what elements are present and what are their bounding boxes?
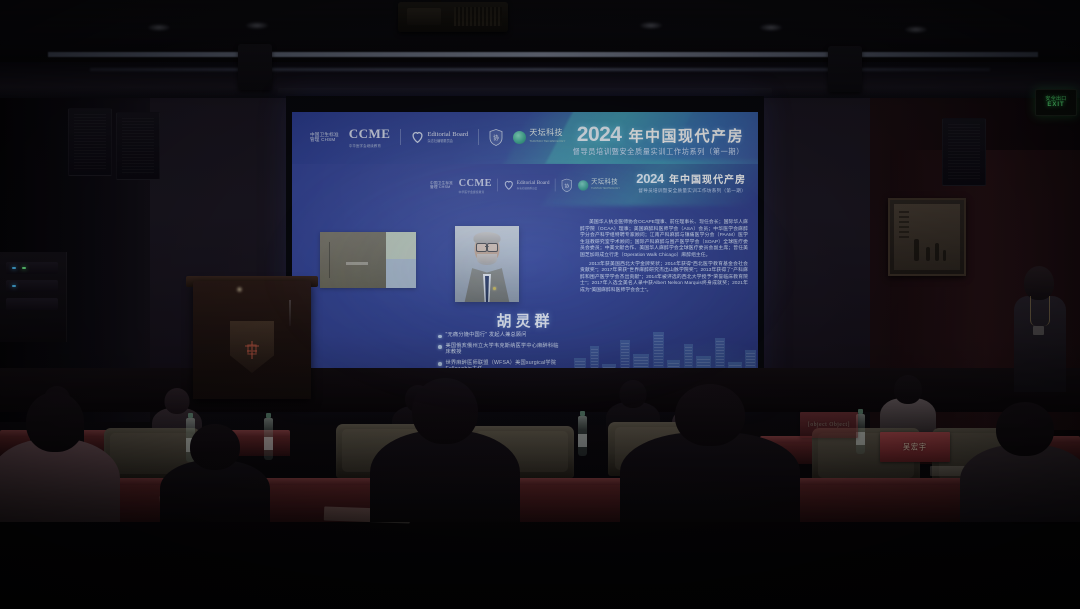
thumbnail-pane xyxy=(386,232,416,259)
inner-slide-title: 年中国现代产房 xyxy=(669,175,746,186)
inner-ccme-subtext: 中华医学会继续教育 xyxy=(459,190,492,194)
wall-speaker xyxy=(942,118,986,186)
downlight-icon xyxy=(760,24,782,31)
person-head xyxy=(190,424,240,470)
slide-title-block: 2024 年中国现代产房 督导员培训暨安全质量实训工作坊系列（第一期） xyxy=(573,124,744,156)
ccme-logo-text: CCME xyxy=(349,126,391,142)
person-head xyxy=(26,392,84,452)
slide-title: 年中国现代产房 xyxy=(628,129,744,145)
podium-emblem-plaque xyxy=(230,321,274,373)
editorial-board-logo: Editorial Board 杂志社编辑委员会 xyxy=(411,131,468,143)
ceiling-light-strip xyxy=(48,52,1038,57)
person-head xyxy=(675,384,745,446)
heart-icon xyxy=(411,131,424,143)
inner-editorial-board-logo: Editorial Board 杂志社编辑委员会 xyxy=(504,180,549,190)
portrait-beard xyxy=(477,254,497,265)
audience-area: [object Object] 吴宏宇 房明 王芳 xyxy=(0,392,1080,522)
painting-canvas xyxy=(894,204,960,270)
audience-member xyxy=(620,396,800,522)
exit-sign-english-label: EXIT xyxy=(1047,102,1064,109)
person-head xyxy=(1024,266,1054,300)
chsm-logo: 中国卫生标准 管理 CHSM xyxy=(310,132,339,143)
chsm-logo-line2: 管理 CHSM xyxy=(310,137,339,142)
bottle-cap xyxy=(858,409,863,414)
inner-sponsor-logo-row: 中国卫生标准 管理 CHSM CCME 中华医学会继续教育 xyxy=(430,176,620,194)
ccme-logo: CCME 中华医学会继续教育 xyxy=(349,126,391,148)
thumbnail-pane xyxy=(386,259,416,288)
tiantan-logo-subtext: TIANTAN TECHNOLOGY xyxy=(529,137,565,146)
speaker-biography: 美国华人执业医师协会OCAPE理事、前任理事长、现任会长；国际华人麻醉学院（OC… xyxy=(580,220,748,297)
ceiling-projector xyxy=(398,2,508,32)
thumbnail-divider xyxy=(329,242,330,278)
tiantan-mark-icon xyxy=(578,180,588,190)
bottle-cap xyxy=(580,411,585,416)
inner-editorial-board-subtext: 杂志社编辑委员会 xyxy=(517,187,550,190)
microphone-stand xyxy=(289,300,291,326)
tiantan-tech-logo: 天坛科技 TIANTAN TECHNOLOGY xyxy=(513,128,565,146)
bullet-icon xyxy=(438,362,442,366)
inner-slide-header: 中国卫生标准 管理 CHSM CCME 中华医学会继续教育 xyxy=(292,164,758,202)
slide-header: 中国卫生标准 管理 CHSM CCME 中华医学会继续教育 xyxy=(292,112,758,164)
inner-slide-year: 2024 xyxy=(636,172,664,185)
bullet-icon xyxy=(438,335,442,339)
downlight-icon xyxy=(905,26,927,33)
logo-divider xyxy=(498,179,499,192)
logo-divider xyxy=(555,179,556,192)
inner-tiantan-tech-logo: 天坛科技 TIANTAN TECHNOLOGY xyxy=(578,178,620,192)
slide-subtitle: 督导员培训暨安全质量实训工作坊系列（第一期） xyxy=(573,148,744,156)
audience-member xyxy=(960,414,1080,522)
inner-slide-subtitle: 督导员培训暨安全质量实训工作坊系列（第一期） xyxy=(636,188,746,193)
audience-member xyxy=(370,390,520,522)
speaker-portrait xyxy=(455,226,519,302)
inner-tiantan-text: 天坛科技 TIANTAN TECHNOLOGY xyxy=(591,178,620,192)
exit-sign: 安全出口 EXIT xyxy=(1035,89,1077,116)
sponsor-logo-row: 中国卫生标准 管理 CHSM CCME 中华医学会继续教育 xyxy=(310,126,566,148)
list-item: 美国俄亥俄州立大学韦克斯纳医学中心麻醉科临床教授 xyxy=(438,343,560,356)
podium xyxy=(193,281,311,399)
name-card: 吴宏宇 xyxy=(880,432,950,462)
ccme-logo-subtext: 中华医学会继续教育 xyxy=(349,143,391,148)
painting-ink-stroke xyxy=(943,250,946,261)
bullet-icon xyxy=(438,345,442,349)
inner-tiantan-subtext: TIANTAN TECHNOLOGY xyxy=(591,185,620,192)
slide-year: 2024 xyxy=(577,124,622,145)
standing-attendee xyxy=(1002,252,1070,392)
bottle-cap xyxy=(266,413,271,418)
heart-icon xyxy=(504,180,514,190)
painting-ink-stroke xyxy=(914,239,919,261)
inner-ccme-text: CCME xyxy=(459,176,492,189)
person-head xyxy=(894,375,922,404)
ceiling-speaker xyxy=(828,46,862,92)
painting-ink-stroke xyxy=(926,247,930,261)
shield-logo: 协 xyxy=(489,129,503,146)
painting-calligraphy xyxy=(899,211,909,241)
badge-icon xyxy=(1033,326,1044,335)
tiantan-logo-text: 天坛科技 TIANTAN TECHNOLOGY xyxy=(529,128,565,146)
person-head xyxy=(412,378,478,444)
person-head xyxy=(996,402,1054,456)
thumbnail-text-block xyxy=(346,262,368,265)
bottle-label xyxy=(578,434,587,447)
podium-lamp xyxy=(236,286,243,293)
inner-chsm-line2: 管理 CHSM xyxy=(430,185,453,189)
av-equipment-rack xyxy=(0,252,67,342)
tiantan-mark-icon xyxy=(513,131,526,144)
credential-text: "无痛分娩中国行" 发起人兼总顾问 xyxy=(446,332,527,339)
name-card-text: 吴宏宇 xyxy=(903,442,927,451)
glasses-icon xyxy=(476,243,498,250)
downlight-icon xyxy=(640,22,662,29)
wall-speaker xyxy=(116,112,160,180)
audience-member xyxy=(0,404,120,522)
logo-divider xyxy=(478,129,479,145)
status-led xyxy=(12,267,16,269)
downlight-icon xyxy=(246,22,268,29)
list-item: "无痛分娩中国行" 发起人兼总顾问 xyxy=(438,332,560,339)
wall-speaker xyxy=(68,108,112,176)
name-card: [object Object] xyxy=(800,412,858,438)
downlight-icon xyxy=(148,24,170,31)
logo-divider xyxy=(400,129,401,145)
inner-shield-logo: 协 xyxy=(561,178,572,192)
conference-hall-scene: 安全出口 EXIT 中国卫生标准 管理 CHSM xyxy=(0,0,1080,609)
water-bottle xyxy=(578,416,587,456)
biography-paragraph: 美国华人执业医师协会OCAPE理事、前任理事长、现任会长；国际华人麻醉学院（OC… xyxy=(580,220,748,260)
ceiling-speaker xyxy=(238,44,272,90)
projected-slide: 中国卫生标准 管理 CHSM CCME 中华医学会继续教育 xyxy=(292,112,758,384)
lanyard-icon xyxy=(1030,296,1050,326)
biography-paragraph: 2013年获美国西北大学金牌奖状；2014年获得"西北医学教育基金会社会贡献奖"… xyxy=(580,262,748,295)
inner-slide: 中国卫生标准 管理 CHSM CCME 中华医学会继续教育 xyxy=(292,164,758,384)
inner-slide-title-block: 2024 年中国现代产房 督导员培训暨安全质量实训工作坊系列（第一期） xyxy=(636,172,746,193)
painting-ink-stroke xyxy=(935,243,939,261)
audience-member xyxy=(160,436,270,522)
status-led xyxy=(22,267,26,269)
framed-painting xyxy=(888,198,966,276)
projector-vent xyxy=(454,7,502,26)
inner-editorial-board-text: Editorial Board xyxy=(517,180,550,186)
projector-lens xyxy=(407,8,441,25)
inner-chsm-logo: 中国卫生标准 管理 CHSM xyxy=(430,181,453,190)
status-led xyxy=(12,285,16,287)
editorial-board-logo-text: Editorial Board xyxy=(427,131,468,138)
inner-ccme-logo: CCME 中华医学会继续教育 xyxy=(459,176,492,194)
bottle-cap xyxy=(188,413,193,418)
person-head xyxy=(165,388,190,414)
credential-text: 美国俄亥俄州立大学韦克斯纳医学中心麻醉科临床教授 xyxy=(446,343,561,356)
institution-emblem-icon xyxy=(242,339,262,361)
editorial-board-logo-subtext: 杂志社编辑委员会 xyxy=(427,139,468,143)
rack-panel xyxy=(6,298,58,310)
slide-thumbnail xyxy=(320,232,416,288)
name-card-text: [object Object] xyxy=(808,420,850,429)
